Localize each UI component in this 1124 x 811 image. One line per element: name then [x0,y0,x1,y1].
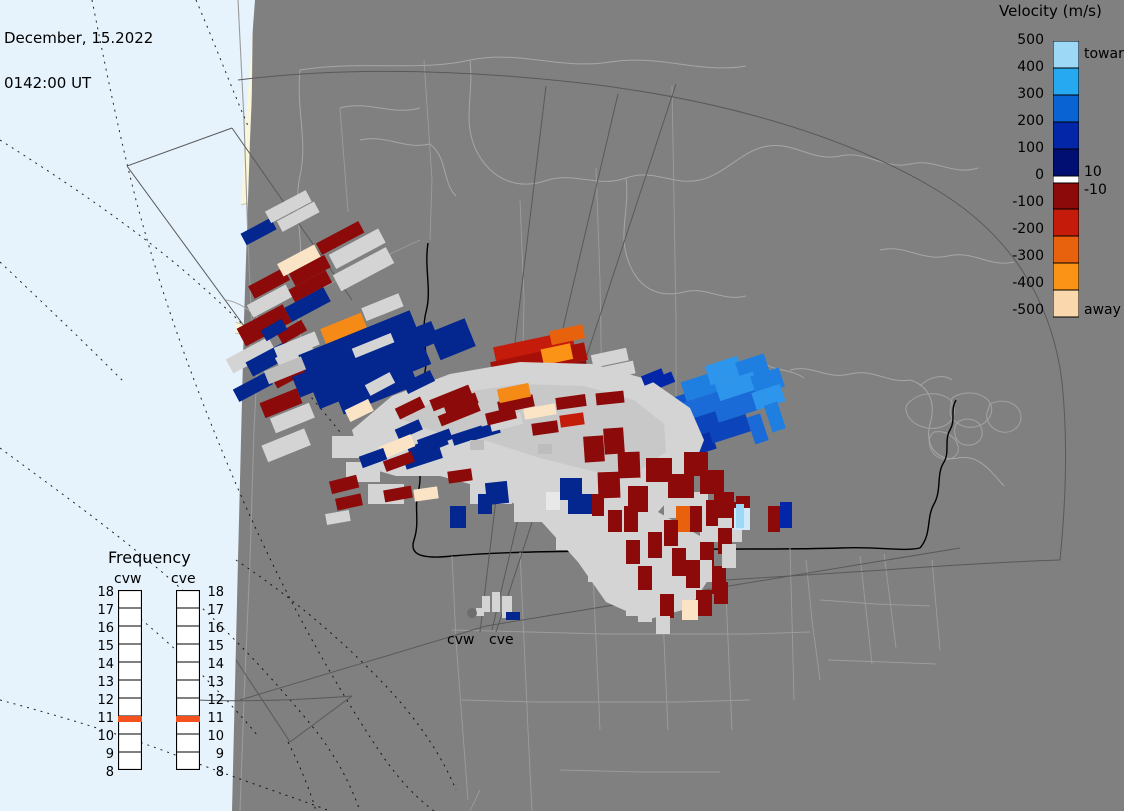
frequency-radar-name-cve: cve [171,571,196,587]
colorbar-lower-inner-label: -10 [1084,182,1107,198]
frequency-radar-name-cvw: cvw [114,571,141,587]
colorbar-tick-n500: -500 [1000,302,1044,318]
colorbar-tick-100: 100 [1000,140,1044,156]
freq-tick-left-13: 13 [92,675,114,690]
freq-tick-left-17: 17 [92,603,114,618]
freq-tick-right-11: 11 [202,711,224,726]
freq-tick-right-13: 13 [202,675,224,690]
freq-tick-right-10: 10 [202,729,224,744]
colorbar-tick-n100: -100 [1000,194,1044,210]
timestamp-block: December, 15.2022 0142:00 UT [4,1,153,121]
freq-tick-right-14: 14 [202,657,224,672]
frequency-marker-cve [176,716,200,722]
freq-tick-left-18: 18 [92,585,114,600]
colorbar-tick-400: 400 [1000,59,1044,75]
freq-tick-left-12: 12 [92,693,114,708]
freq-tick-right-9: 9 [202,747,224,762]
freq-tick-right-17: 17 [202,603,224,618]
freq-tick-left-11: 11 [92,711,114,726]
colorbar-upper-inner-label: 10 [1084,164,1102,180]
fan-plot-window: December, 15.2022 0142:00 UT Velocity (m… [0,0,1124,811]
freq-tick-left-10: 10 [92,729,114,744]
timestamp-date: December, 15.2022 [4,31,153,46]
frequency-bar-cve [176,590,200,770]
colorbar-away-label: away [1084,302,1121,318]
timestamp-time: 0142:00 UT [4,76,153,91]
colorbar-tick-500: 500 [1000,32,1044,48]
colorbar-tick-300: 300 [1000,86,1044,102]
freq-tick-right-12: 12 [202,693,224,708]
freq-tick-right-8: 8 [202,765,224,780]
freq-tick-left-16: 16 [92,621,114,636]
colorbar-toward-label: toward [1084,46,1124,62]
freq-tick-right-15: 15 [202,639,224,654]
map-base-layer [0,0,1124,811]
colorbar-tick-n200: -200 [1000,221,1044,237]
colorbar-tick-n400: -400 [1000,275,1044,291]
frequency-legend-title: Frequency [108,548,191,567]
freq-tick-left-8: 8 [92,765,114,780]
site-label-cvw: cvw [447,632,474,648]
colorbar-title: Velocity (m/s) [999,2,1102,20]
colorbar-tick-0: 0 [1000,167,1044,183]
frequency-marker-cvw [118,716,142,722]
frequency-bar-cvw [118,590,142,770]
colorbar-tick-n300: -300 [1000,248,1044,264]
freq-tick-left-9: 9 [92,747,114,762]
radar-site-marker [467,608,477,618]
site-label-cve: cve [489,632,514,648]
freq-tick-right-18: 18 [202,585,224,600]
freq-tick-right-16: 16 [202,621,224,636]
freq-tick-left-14: 14 [92,657,114,672]
colorbar-swatches [1053,41,1079,318]
colorbar-swatch-group [1053,41,1079,317]
colorbar-tick-200: 200 [1000,113,1044,129]
freq-tick-left-15: 15 [92,639,114,654]
